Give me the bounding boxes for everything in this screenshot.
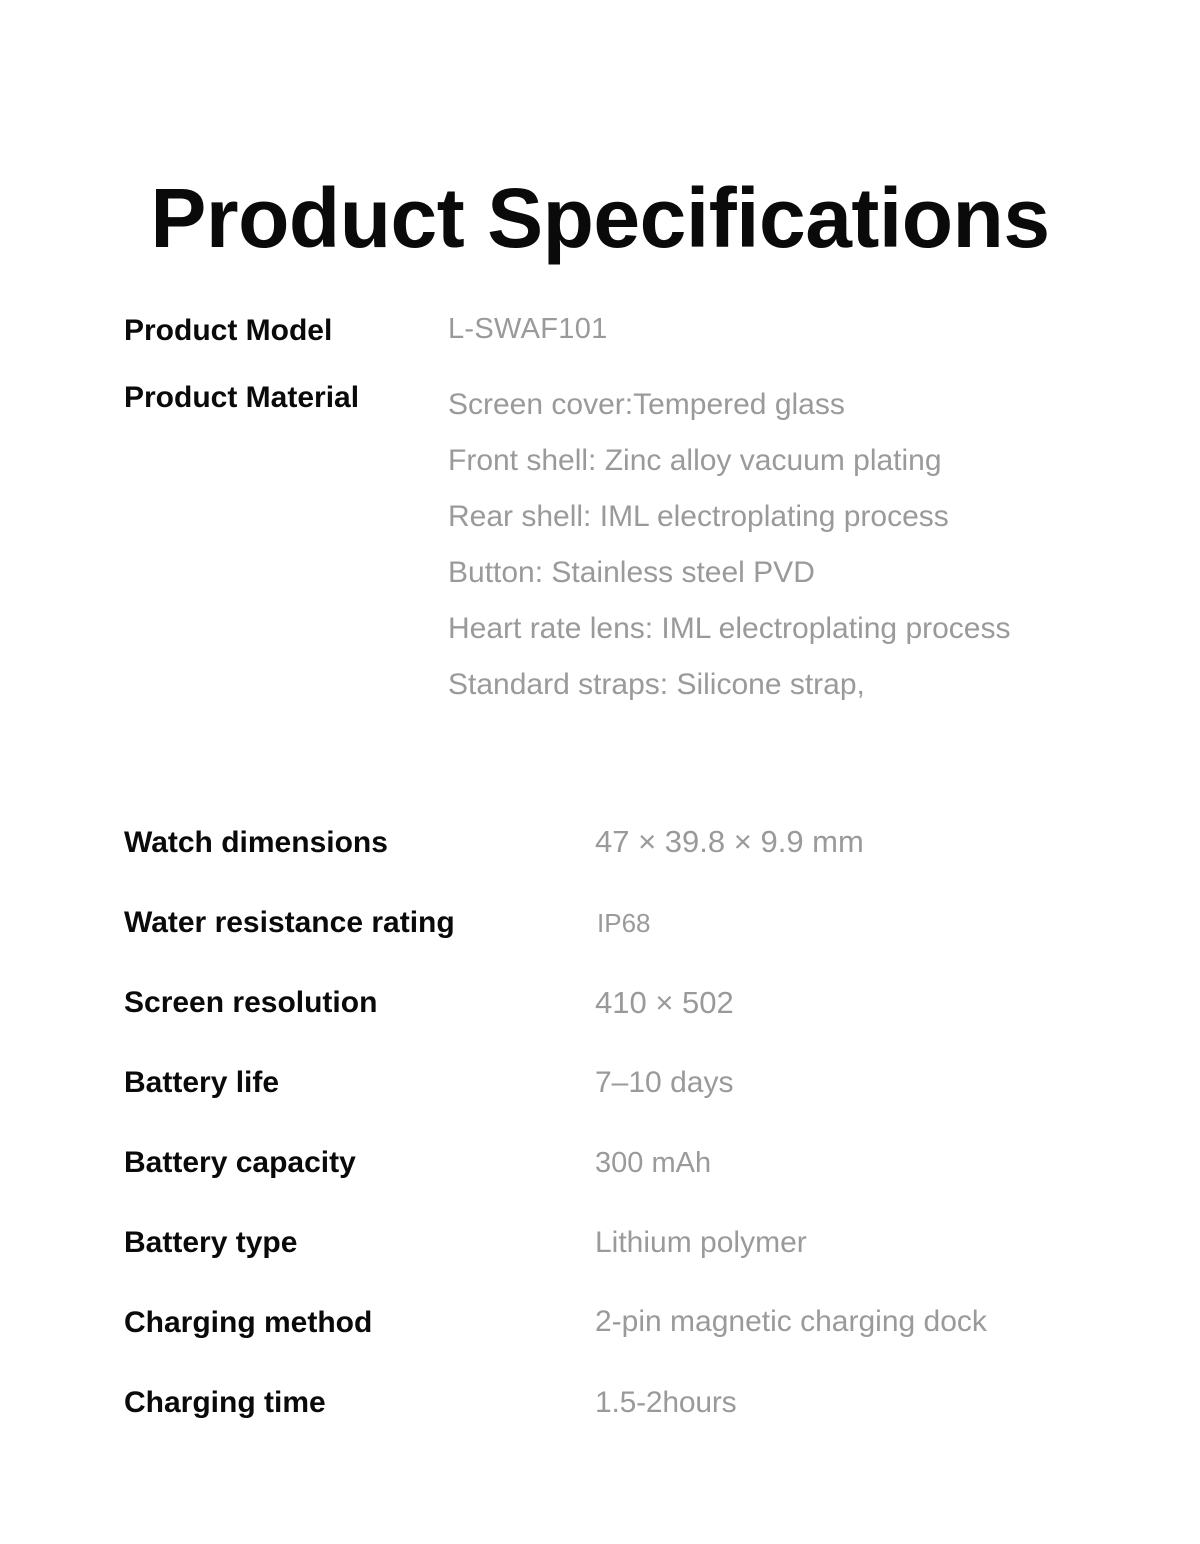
- spec-label-screen-resolution: Screen resolution: [124, 986, 377, 1021]
- product-overview-section: Product Model L-SWAF101 Product Material…: [124, 310, 1194, 739]
- spec-label-water-resistance-rating: Water resistance rating: [124, 906, 455, 941]
- spec-value-battery-life: 7–10 days: [595, 1066, 733, 1101]
- material-line: Heart rate lens: IML electroplating proc…: [448, 601, 1194, 657]
- spec-row-product-model: Product Model L-SWAF101: [124, 310, 1194, 351]
- spec-row-battery-capacity: Battery capacity 300 mAh: [124, 1146, 1194, 1226]
- spec-value-watch-dimensions: 47 × 39.8 × 9.9 mm: [595, 824, 864, 860]
- material-line: Rear shell: IML electroplating process: [448, 489, 1194, 545]
- material-line-list: Screen cover:Tempered glass Front shell:…: [448, 377, 1194, 713]
- spec-row-product-material: Product Material Screen cover:Tempered g…: [124, 377, 1194, 713]
- spec-value-screen-resolution: 410 × 502: [595, 985, 734, 1021]
- spec-value-battery-capacity: 300 mAh: [595, 1147, 711, 1180]
- spec-value-product-model: L-SWAF101: [448, 310, 1194, 349]
- spec-row-water-resistance-rating: Water resistance rating IP68: [124, 906, 1194, 986]
- material-line: Standard straps: Silicone strap,: [448, 657, 1194, 713]
- spec-label-battery-life: Battery life: [124, 1066, 279, 1101]
- spec-row-charging-time: Charging time 1.5-2hours: [124, 1386, 1194, 1466]
- spec-row-battery-life: Battery life 7–10 days: [124, 1066, 1194, 1146]
- spec-label-product-material: Product Material: [124, 377, 448, 418]
- spec-value-charging-method: 2-pin magnetic charging dock: [595, 1305, 987, 1340]
- material-line: Front shell: Zinc alloy vacuum plating: [448, 433, 1194, 489]
- material-line: Button: Stainless steel PVD: [448, 545, 1194, 601]
- hardware-specs-section: Watch dimensions 47 × 39.8 × 9.9 mm Wate…: [124, 826, 1194, 1466]
- page-title: Product Specifications: [0, 174, 1200, 262]
- spec-label-watch-dimensions: Watch dimensions: [124, 826, 388, 861]
- spec-row-screen-resolution: Screen resolution 410 × 502: [124, 986, 1194, 1066]
- spec-label-charging-time: Charging time: [124, 1386, 326, 1421]
- spec-row-battery-type: Battery type Lithium polymer: [124, 1226, 1194, 1306]
- spec-label-product-model: Product Model: [124, 310, 448, 351]
- material-line: Screen cover:Tempered glass: [448, 377, 1194, 433]
- spec-value-water-resistance-rating: IP68: [597, 909, 651, 939]
- spec-value-charging-time: 1.5-2hours: [595, 1386, 736, 1421]
- spec-label-battery-type: Battery type: [124, 1226, 297, 1261]
- spec-label-charging-method: Charging method: [124, 1306, 372, 1341]
- spec-label-battery-capacity: Battery capacity: [124, 1146, 356, 1181]
- spec-value-battery-type: Lithium polymer: [595, 1226, 807, 1261]
- spec-row-watch-dimensions: Watch dimensions 47 × 39.8 × 9.9 mm: [124, 826, 1194, 906]
- spec-row-charging-method: Charging method 2-pin magnetic charging …: [124, 1306, 1194, 1386]
